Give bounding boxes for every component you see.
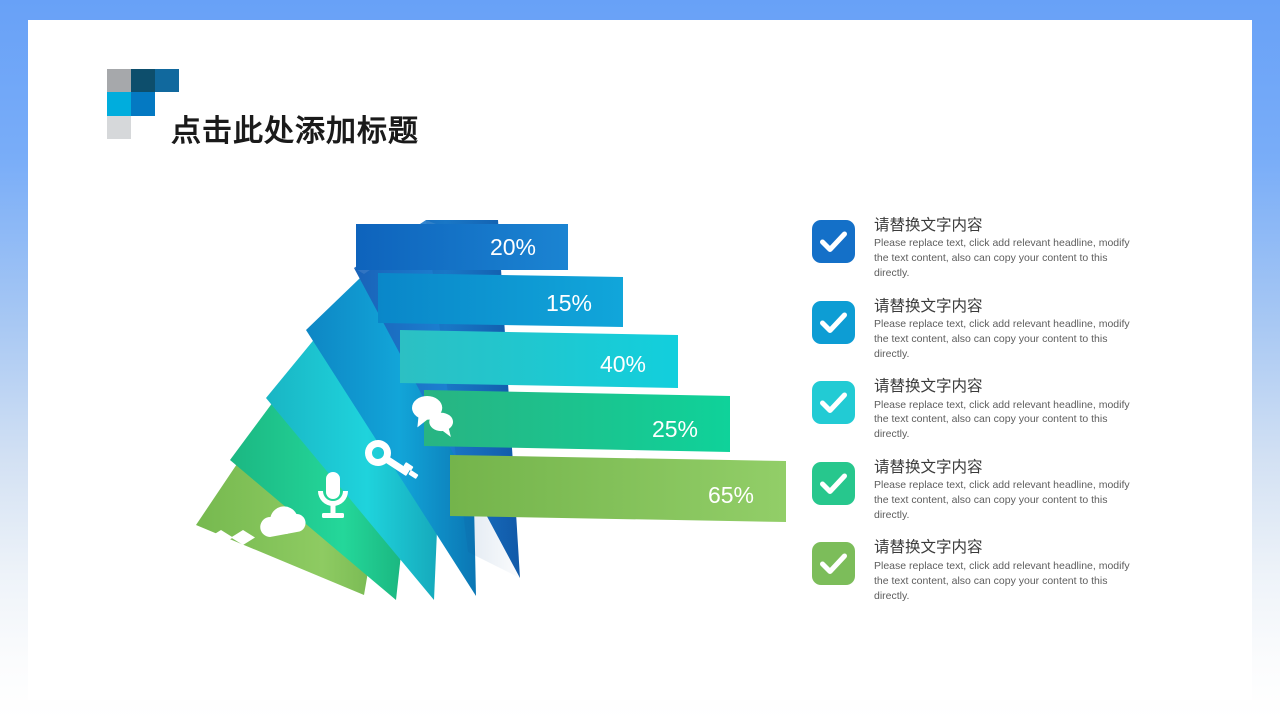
- list-item-body: Please replace text, click add relevant …: [874, 478, 1132, 523]
- list-item[interactable]: 请替换文字内容 Please replace text, click add r…: [812, 377, 1142, 442]
- check-icon: [812, 381, 855, 424]
- logo-square-gray: [107, 69, 131, 92]
- bar-1: [356, 224, 568, 270]
- check-icon: [812, 220, 855, 263]
- list-item-heading: 请替换文字内容: [874, 538, 1142, 557]
- list-item[interactable]: 请替换文字内容 Please replace text, click add r…: [812, 458, 1142, 523]
- list-item-heading: 请替换文字内容: [874, 216, 1142, 235]
- list-item[interactable]: 请替换文字内容 Please replace text, click add r…: [812, 538, 1142, 603]
- list-item-body: Please replace text, click add relevant …: [874, 317, 1132, 362]
- cone-funnel-chart: 20% 15% 40% 25% 65%: [168, 200, 788, 620]
- list-item-heading: 请替换文字内容: [874, 297, 1142, 316]
- list-item[interactable]: 请替换文字内容 Please replace text, click add r…: [812, 297, 1142, 362]
- feature-list: 请替换文字内容 Please replace text, click add r…: [812, 216, 1142, 619]
- bar-value-3: 40%: [600, 351, 646, 377]
- slide-surface: 点击此处添加标题: [28, 20, 1252, 700]
- check-icon: [812, 542, 855, 585]
- bar-value-5: 65%: [708, 482, 754, 508]
- check-icon: [812, 301, 855, 344]
- logo-square-steel-blue: [155, 69, 179, 92]
- logo-square-navy: [131, 69, 155, 92]
- check-icon: [812, 462, 855, 505]
- bar-value-1: 20%: [490, 234, 536, 260]
- page-title[interactable]: 点击此处添加标题: [171, 106, 419, 150]
- logo-square-blue: [131, 92, 155, 116]
- logo-square-cyan: [107, 92, 131, 116]
- logo-squares: [107, 69, 179, 139]
- list-item-heading: 请替换文字内容: [874, 377, 1142, 396]
- list-item-body: Please replace text, click add relevant …: [874, 398, 1132, 443]
- list-item-body: Please replace text, click add relevant …: [874, 236, 1132, 281]
- bar-value-4: 25%: [652, 416, 698, 442]
- logo-square-light-gray: [107, 116, 131, 139]
- list-item-body: Please replace text, click add relevant …: [874, 559, 1132, 604]
- list-item-heading: 请替换文字内容: [874, 458, 1142, 477]
- list-item[interactable]: 请替换文字内容 Please replace text, click add r…: [812, 216, 1142, 281]
- bar-value-2: 15%: [546, 290, 592, 316]
